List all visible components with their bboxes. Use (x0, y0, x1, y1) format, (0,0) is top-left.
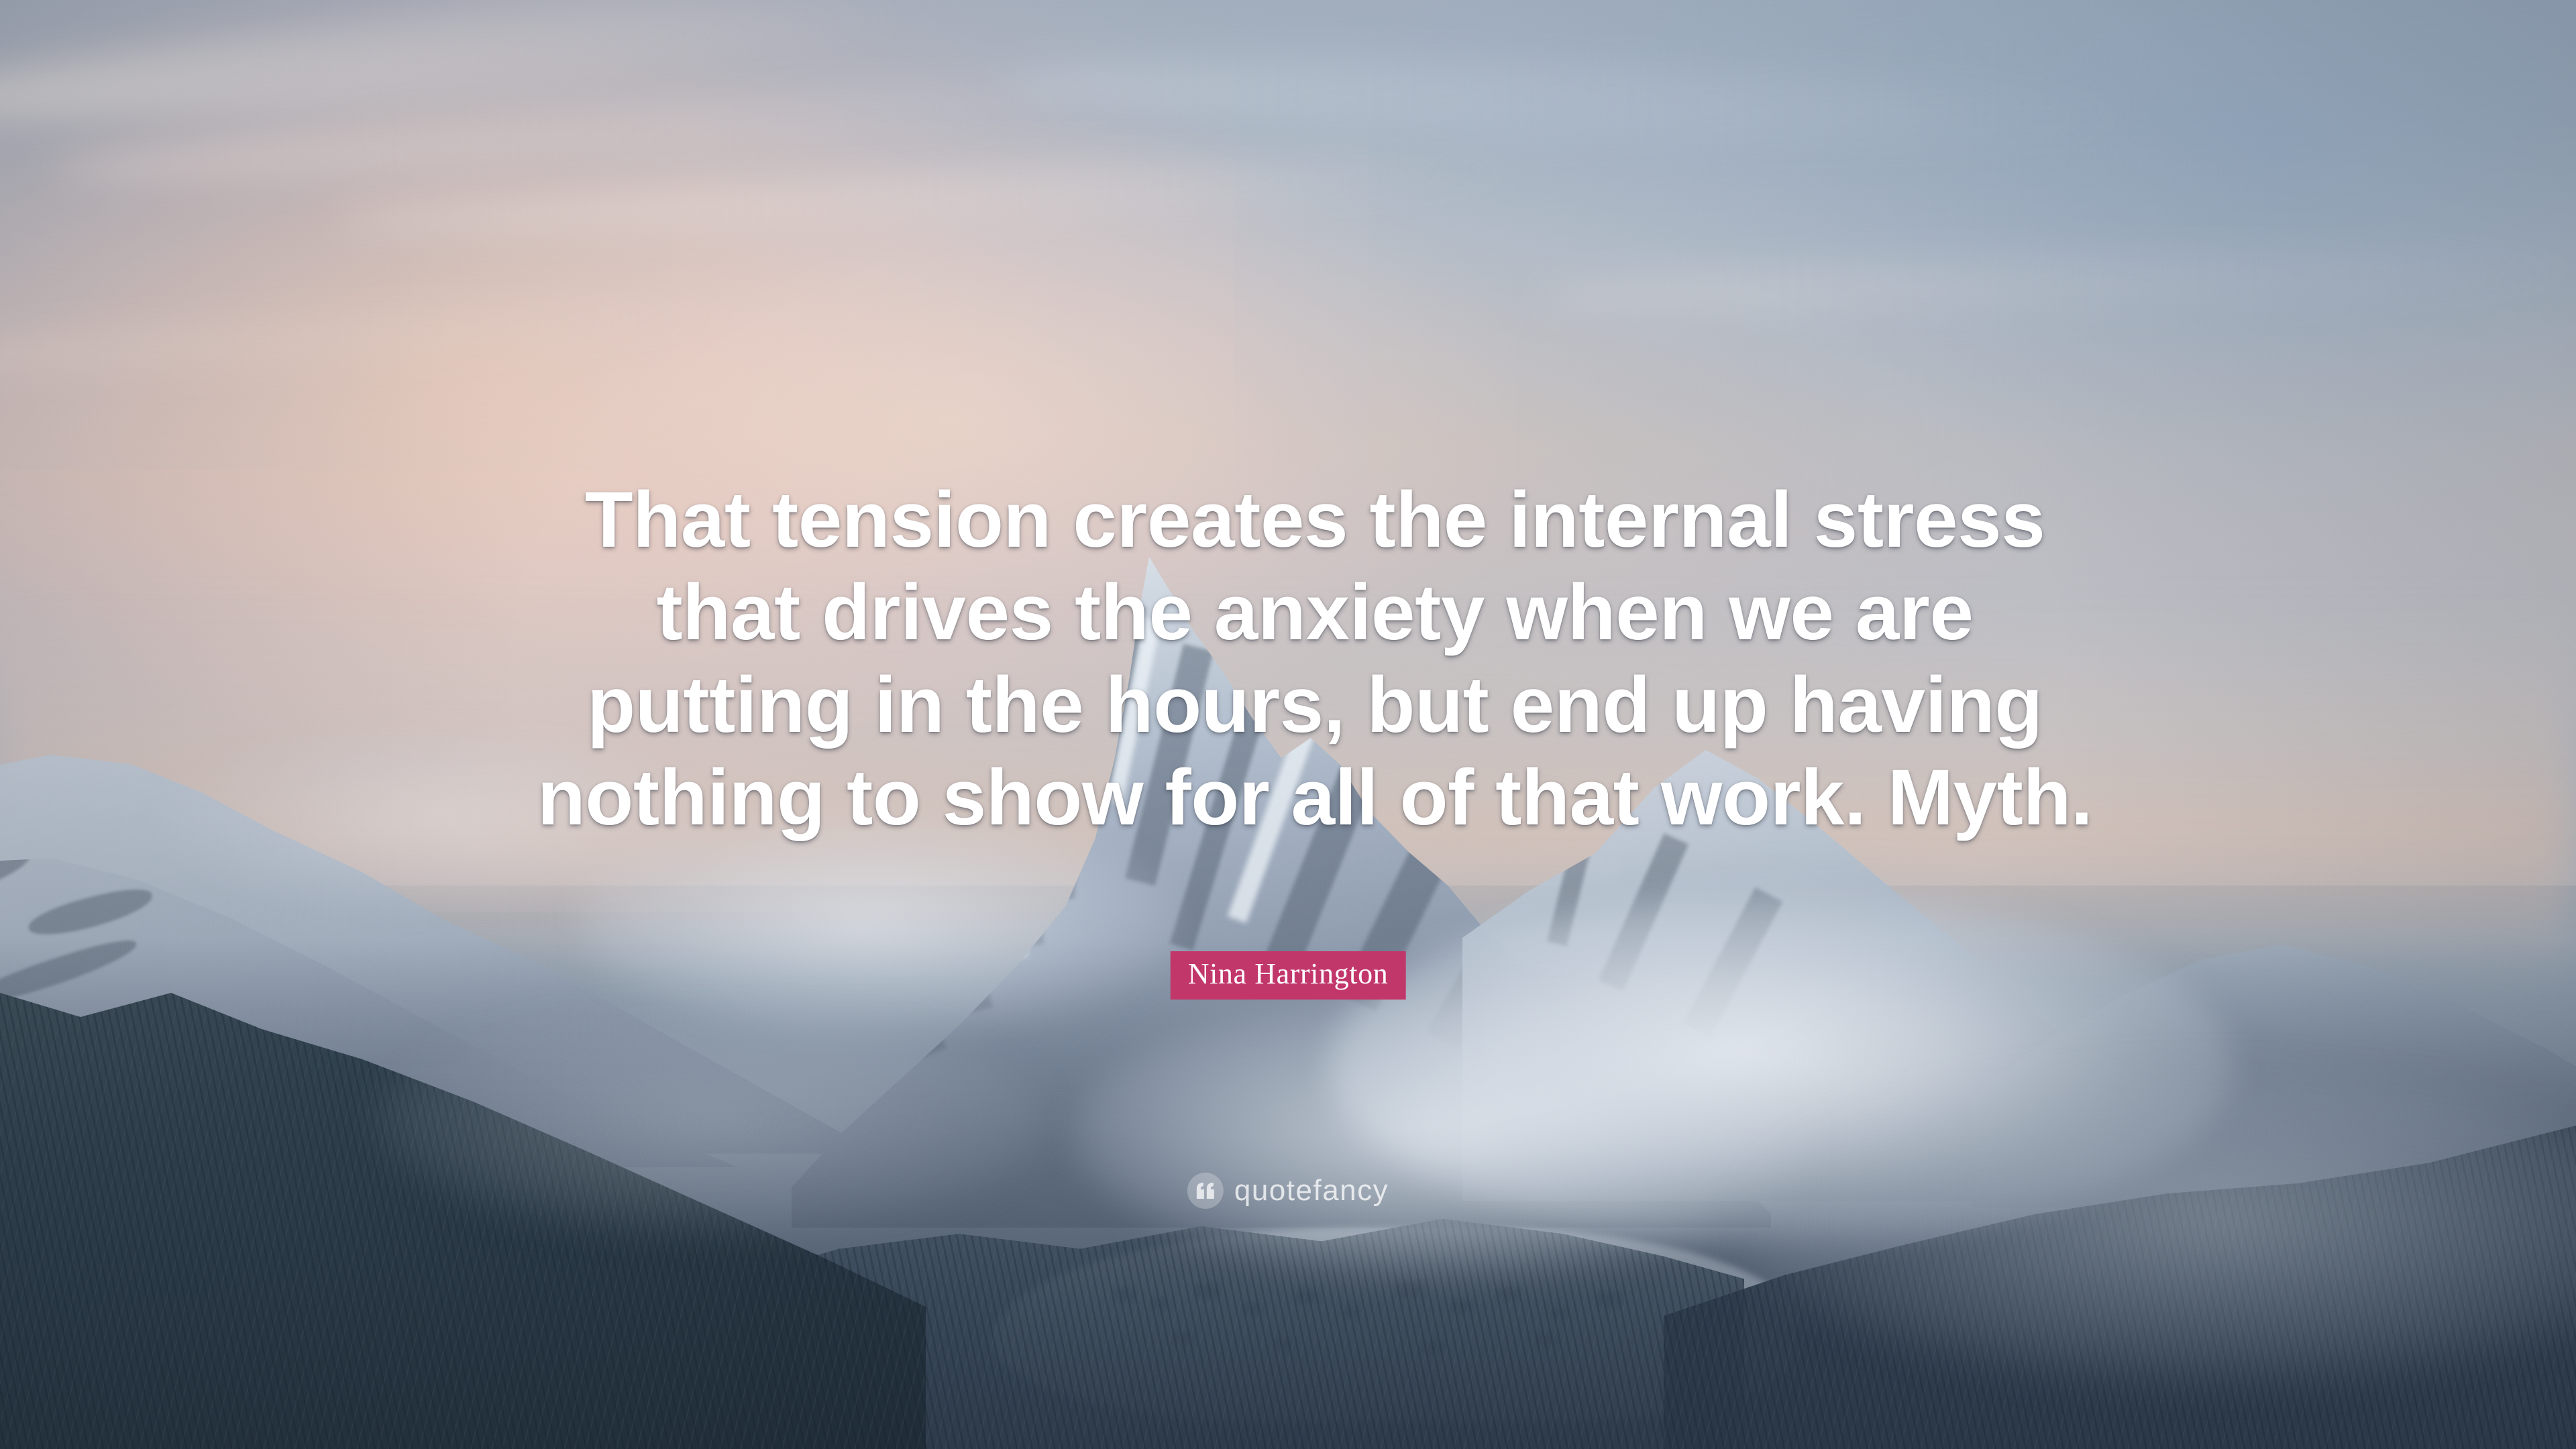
quote-line-2: that drives the anxiety when we are (466, 566, 2163, 659)
quote-line-3: putting in the hours, but end up having (466, 659, 2163, 751)
quote-poster: That tension creates the internal stress… (0, 0, 2576, 1449)
quote-text: That tension creates the internal stress… (466, 474, 2163, 844)
content-overlay: That tension creates the internal stress… (0, 0, 2576, 1449)
watermark-brand: quotefancy (1234, 1175, 1389, 1206)
author-badge[interactable]: Nina Harrington (1171, 951, 1406, 1000)
author-name: Nina Harrington (1188, 957, 1389, 990)
watermark[interactable]: quotefancy (1187, 1173, 1389, 1209)
quote-mark-icon (1187, 1173, 1224, 1209)
quote-line-1: That tension creates the internal stress (466, 474, 2163, 566)
quote-line-4: nothing to show for all of that work. My… (466, 751, 2163, 844)
